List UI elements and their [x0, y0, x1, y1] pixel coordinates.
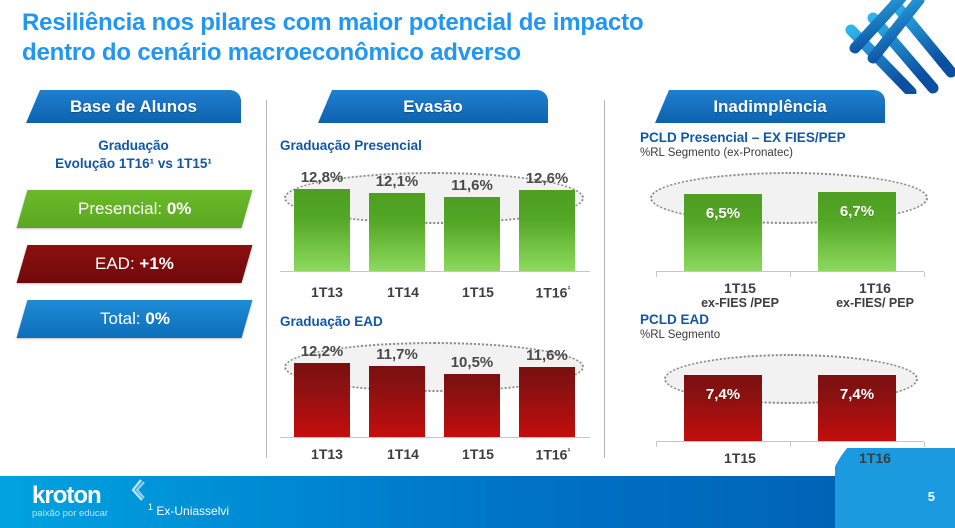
- kroton-k-icon: [127, 479, 145, 501]
- chart-pcld-ead: PCLD EAD %RL Segmento 7,4%7,4% 1T15 1T16: [640, 312, 940, 462]
- bar-1T13: [294, 363, 350, 438]
- value-label-1: 7,4%: [818, 386, 896, 403]
- category-label-3: 1T16¹: [520, 284, 586, 301]
- banner-label: Base de Alunos: [70, 97, 197, 117]
- chart-plot-area: 6,5%6,7%: [640, 172, 940, 272]
- chart-title: Graduação EAD: [280, 314, 590, 330]
- bar-group: [640, 172, 940, 272]
- category-label-1: 1T16ex-FIES/ PEP: [825, 280, 925, 310]
- base-lead-line1: Graduação: [26, 137, 241, 155]
- category-label-main: 1T16: [859, 450, 891, 466]
- category-label-main: 1T16: [536, 447, 568, 463]
- page-title: Resiliência nos pilares com maior potenc…: [22, 8, 742, 68]
- chart-pcld-presencial: PCLD Presencial – EX FIES/PEP %RL Segmen…: [640, 130, 940, 300]
- category-label-2: 1T15: [445, 446, 511, 462]
- metric-row-ead: EAD: +1%: [17, 245, 253, 283]
- category-label-main: 1T13: [311, 446, 343, 462]
- chart-title: Graduação Presencial: [280, 138, 590, 154]
- page-title-line1: Resiliência nos pilares com maior potenc…: [22, 8, 742, 38]
- page-title-line2: dentro do cenário macroeconômico adverso: [22, 38, 742, 68]
- metric-text-total: Total: 0%: [100, 309, 170, 329]
- kroton-logo: kroton paixão por educar: [32, 484, 108, 520]
- category-footnote-marker: ¹: [567, 284, 570, 294]
- axis-tick-left: [656, 442, 657, 447]
- chart-plot-area: 7,4%7,4%: [640, 352, 940, 442]
- chart-title: PCLD EAD: [640, 312, 940, 328]
- metric-row-presencial: Presencial: 0%: [17, 190, 253, 228]
- brand-mark-icon: [815, 0, 955, 94]
- axis-tick-mid: [790, 272, 791, 277]
- value-label-2: 11,6%: [444, 177, 500, 194]
- base-lead-text: Graduação Evolução 1T16¹ vs 1T15¹: [26, 137, 241, 173]
- panel-banner-base-de-alunos: Base de Alunos: [26, 90, 241, 123]
- category-label-main: 1T14: [387, 284, 419, 300]
- metric-value-ead: +1%: [139, 254, 174, 273]
- chart-graduacao-presencial: Graduação Presencial 12,8%12,1%11,6%12,6…: [280, 138, 590, 303]
- axis-tick-mid: [790, 442, 791, 447]
- banner-label: Inadimplência: [713, 97, 826, 117]
- category-label-sub: ex-FIES /PEP: [690, 296, 790, 310]
- category-footnote-marker: ¹: [567, 446, 570, 456]
- category-label-1: 1T16: [825, 450, 925, 466]
- axis-tick-right: [924, 272, 925, 277]
- panel-divider-left: [266, 100, 267, 458]
- value-label-0: 6,5%: [684, 205, 762, 222]
- axis-tick-left: [656, 272, 657, 277]
- metric-text-presencial: Presencial: 0%: [78, 199, 191, 219]
- value-label-2: 10,5%: [444, 354, 500, 371]
- chart-title: PCLD Presencial – EX FIES/PEP: [640, 130, 940, 146]
- category-label-0: 1T13: [294, 284, 360, 300]
- category-label-main: 1T14: [387, 446, 419, 462]
- bar-1T15: [444, 197, 500, 272]
- value-label-3: 12,6%: [519, 170, 575, 187]
- axis-tick-right: [924, 442, 925, 447]
- metric-label-presencial: Presencial:: [78, 199, 167, 218]
- category-label-0: 1T13: [294, 446, 360, 462]
- footnote: 1 Ex-Uniasselvi: [148, 502, 229, 518]
- category-label-main: 1T15: [724, 280, 756, 296]
- value-label-1: 11,7%: [369, 346, 425, 363]
- page-number: 5: [928, 489, 935, 504]
- category-label-main: 1T15: [462, 284, 494, 300]
- axis-line: [280, 437, 590, 438]
- panel-banner-evasao: Evasão: [318, 90, 548, 123]
- metric-label-ead: EAD:: [95, 254, 139, 273]
- chart-subtitle: %RL Segmento (ex-Pronatec): [640, 146, 940, 160]
- value-label-0: 12,8%: [294, 169, 350, 186]
- bar-1T14: [369, 193, 425, 272]
- bar-1T16: [519, 367, 575, 438]
- footnote-text: Ex-Uniasselvi: [156, 504, 229, 518]
- bar-1T13: [294, 189, 350, 272]
- category-label-main: 1T13: [311, 284, 343, 300]
- category-label-1: 1T14: [370, 446, 436, 462]
- base-lead-line2: Evolução 1T16¹ vs 1T15¹: [26, 155, 241, 173]
- panel-divider-right: [604, 100, 605, 458]
- category-label-2: 1T15: [445, 284, 511, 300]
- axis-line: [280, 271, 590, 272]
- category-label-1: 1T14: [370, 284, 436, 300]
- value-label-1: 6,7%: [818, 203, 896, 220]
- panel-banner-inadimplencia: Inadimplência: [655, 90, 885, 123]
- metric-text-ead: EAD: +1%: [95, 254, 174, 274]
- category-label-0: 1T15: [690, 450, 790, 466]
- value-label-3: 11,6%: [519, 347, 575, 364]
- category-label-main: 1T15: [724, 450, 756, 466]
- logo-tagline: paixão por educar: [32, 508, 108, 520]
- chart-subtitle: %RL Segmento: [640, 328, 940, 342]
- category-label-main: 1T15: [462, 446, 494, 462]
- category-label-3: 1T16¹: [520, 446, 586, 463]
- bar-1T14: [369, 366, 425, 438]
- category-label-main: 1T16: [859, 280, 891, 296]
- value-label-0: 12,2%: [294, 343, 350, 360]
- banner-label: Evasão: [403, 97, 463, 117]
- bar-1T16: [519, 190, 575, 272]
- value-label-1: 12,1%: [369, 173, 425, 190]
- bar-1T15: [444, 374, 500, 438]
- metric-row-total: Total: 0%: [17, 300, 253, 338]
- chart-plot-area: 12,8%12,1%11,6%12,6%: [280, 162, 590, 272]
- category-label-main: 1T16: [536, 285, 568, 301]
- category-label-sub: ex-FIES/ PEP: [825, 296, 925, 310]
- footnote-marker: 1: [148, 502, 153, 512]
- footer-bar: kroton paixão por educar 1 Ex-Uniasselvi…: [0, 476, 955, 528]
- chart-plot-area: 12,2%11,7%10,5%11,6%: [280, 338, 590, 438]
- metric-value-presencial: 0%: [167, 199, 192, 218]
- value-label-0: 7,4%: [684, 386, 762, 403]
- metric-label-total: Total:: [100, 309, 145, 328]
- metric-value-total: 0%: [145, 309, 170, 328]
- chart-graduacao-ead: Graduação EAD 12,2%11,7%10,5%11,6% 1T13 …: [280, 314, 590, 474]
- category-label-0: 1T15ex-FIES /PEP: [690, 280, 790, 310]
- logo-wordmark: kroton: [32, 484, 108, 508]
